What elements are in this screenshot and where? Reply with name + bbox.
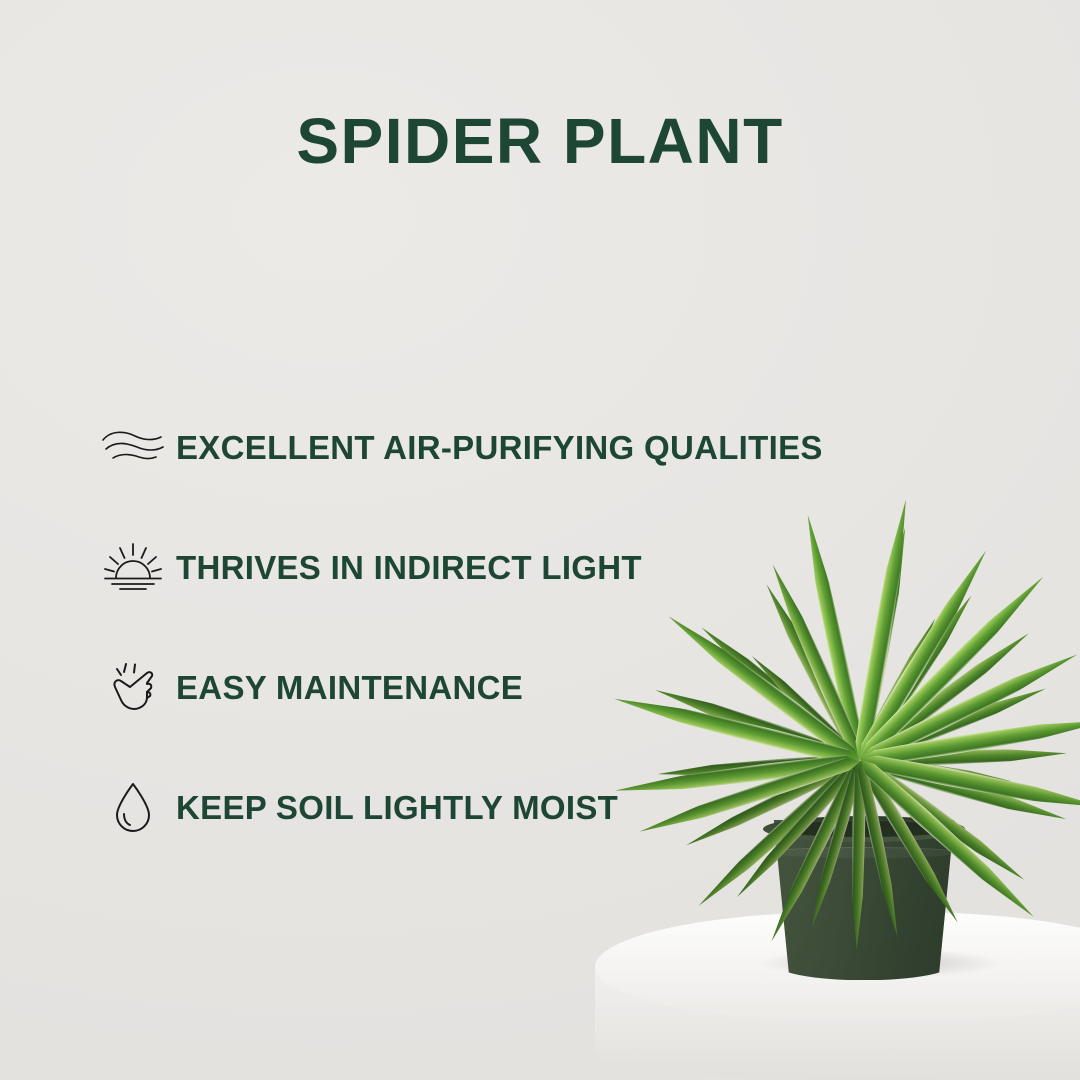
page-title: SPIDER PLANT	[0, 108, 1080, 175]
list-item-label: KEEP SOIL LIGHTLY MOIST	[176, 789, 618, 827]
water-droplet-icon	[100, 778, 166, 838]
finger-snap-icon	[100, 658, 166, 718]
plant-photo	[560, 460, 1080, 1080]
spider-plant-foliage	[560, 460, 1080, 1080]
list-item-label: EASY MAINTENANCE	[176, 669, 523, 707]
infographic-canvas: SPIDER PLANT EXCELLENT AIR-PURIFYING QUA…	[0, 0, 1080, 1080]
air-waves-icon	[100, 418, 166, 478]
sunrise-icon	[100, 538, 166, 598]
